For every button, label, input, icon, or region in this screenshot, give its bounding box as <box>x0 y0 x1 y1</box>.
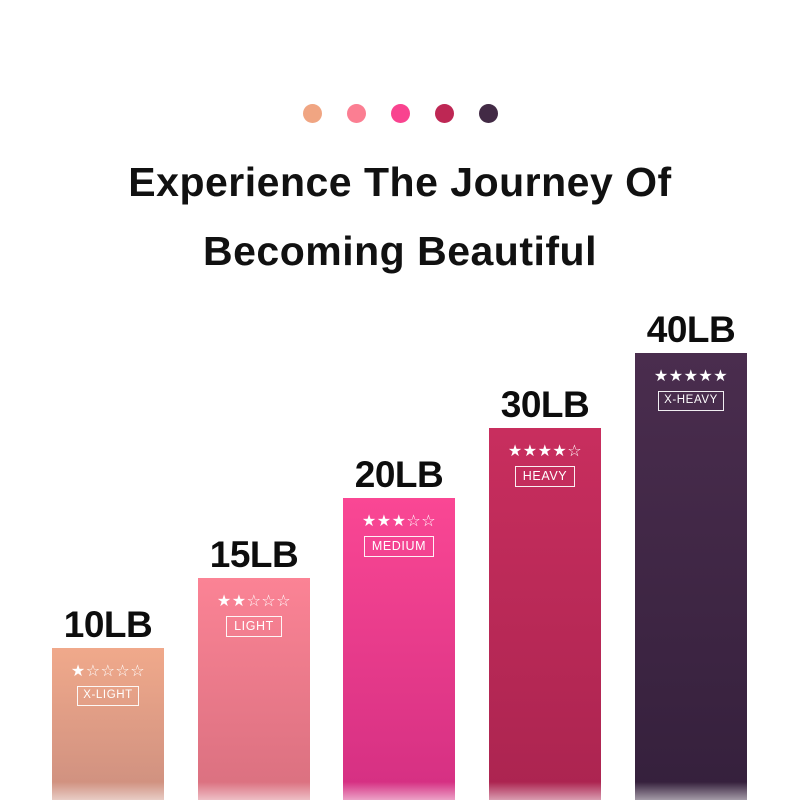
bar-fill: ★☆☆☆☆X-LIGHT <box>52 648 164 800</box>
tier-label: X-HEAVY <box>658 391 724 411</box>
bar-weight-label: 20LB <box>355 456 443 493</box>
bar-weight-label: 10LB <box>64 606 152 643</box>
bar-weight-label: 30LB <box>501 386 589 423</box>
bar-badge: ★★☆☆☆LIGHT <box>198 592 310 637</box>
bar-badge: ★★★☆☆MEDIUM <box>343 512 455 557</box>
star-rating-icon: ★★★★★ <box>635 367 747 385</box>
star-rating-icon: ★★☆☆☆ <box>198 592 310 610</box>
tier-label: LIGHT <box>226 616 282 637</box>
bar-badge: ★☆☆☆☆X-LIGHT <box>52 662 164 706</box>
tier-label: X-LIGHT <box>77 686 139 706</box>
resistance-bar-chart: 10LB★☆☆☆☆X-LIGHT15LB★★☆☆☆LIGHT20LB★★★☆☆M… <box>0 0 800 800</box>
tier-label: HEAVY <box>515 466 575 487</box>
bar-badge: ★★★★☆HEAVY <box>489 442 601 487</box>
bar-weight-label: 40LB <box>647 311 735 348</box>
bar-weight-label: 15LB <box>210 536 298 573</box>
bar-fill: ★★★☆☆MEDIUM <box>343 498 455 800</box>
bar-15lb[interactable]: 15LB★★☆☆☆LIGHT <box>198 578 310 800</box>
product-infographic: Experience The Journey Of Becoming Beaut… <box>0 0 800 800</box>
star-rating-icon: ★★★★☆ <box>489 442 601 460</box>
bar-20lb[interactable]: 20LB★★★☆☆MEDIUM <box>343 498 455 800</box>
bar-40lb[interactable]: 40LB★★★★★X-HEAVY <box>635 353 747 800</box>
bar-30lb[interactable]: 30LB★★★★☆HEAVY <box>489 428 601 800</box>
bar-fill: ★★★★★X-HEAVY <box>635 353 747 800</box>
tier-label: MEDIUM <box>364 536 434 557</box>
bar-fill: ★★★★☆HEAVY <box>489 428 601 800</box>
star-rating-icon: ★★★☆☆ <box>343 512 455 530</box>
star-rating-icon: ★☆☆☆☆ <box>52 662 164 680</box>
bar-fill: ★★☆☆☆LIGHT <box>198 578 310 800</box>
bar-badge: ★★★★★X-HEAVY <box>635 367 747 411</box>
bar-10lb[interactable]: 10LB★☆☆☆☆X-LIGHT <box>52 648 164 800</box>
